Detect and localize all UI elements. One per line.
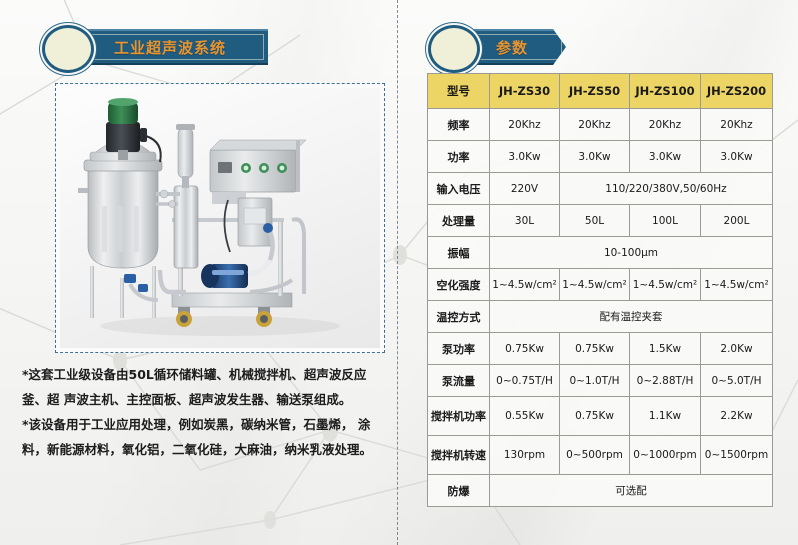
- table-cell: 30L: [490, 205, 560, 237]
- table-cell: 配有温控夹套: [490, 301, 773, 333]
- table-cell: 0~1000rpm: [630, 436, 701, 475]
- ultrasonic-system-illustration: [60, 88, 380, 348]
- table-row: 泵流量0~0.75T/H0~1.0T/H0~2.88T/H0~5.0T/H: [428, 365, 773, 397]
- right-section-banner: 参数: [428, 25, 588, 65]
- table-row: 处理量30L50L100L200L: [428, 205, 773, 237]
- table-cell: 可选配: [490, 475, 773, 507]
- row-label: 温控方式: [428, 301, 490, 333]
- table-cell: 20Khz: [560, 109, 630, 141]
- table-cell: 2.0Kw: [701, 333, 773, 365]
- table-cell: 3.0Kw: [701, 141, 773, 173]
- row-label: 搅拌机功率: [428, 397, 490, 436]
- header-cell-model: JH-ZS100: [630, 74, 701, 109]
- table-cell: 220V: [490, 173, 560, 205]
- table-row: 空化强度1~4.5w/cm²1~4.5w/cm²1~4.5w/cm²1~4.5w…: [428, 269, 773, 301]
- description-line-2: *该设备用于工业应用处理，例如炭黑，碳纳米管，石墨烯， 涂料，新能源材料，氧化铝…: [22, 412, 390, 462]
- table-cell: 1~4.5w/cm²: [560, 269, 630, 301]
- table-cell: 1~4.5w/cm²: [490, 269, 560, 301]
- row-label: 搅拌机转速: [428, 436, 490, 475]
- left-banner-ribbon: 工业超声波系统: [72, 29, 268, 65]
- table-cell: 20Khz: [701, 109, 773, 141]
- table-row: 温控方式配有温控夹套: [428, 301, 773, 333]
- table-cell: 50L: [560, 205, 630, 237]
- table-cell: 0~500rpm: [560, 436, 630, 475]
- table-cell: 0.75Kw: [560, 397, 630, 436]
- table-cell: 1~4.5w/cm²: [630, 269, 701, 301]
- row-label: 输入电压: [428, 173, 490, 205]
- table-cell: 110/220/380V,50/60Hz: [560, 173, 773, 205]
- table-cell: 20Khz: [630, 109, 701, 141]
- table-cell: 0~0.75T/H: [490, 365, 560, 397]
- table-cell: 20Khz: [490, 109, 560, 141]
- table-cell: 0~5.0T/H: [701, 365, 773, 397]
- specification-table: 型号JH-ZS30JH-ZS50JH-ZS100JH-ZS200频率20Khz2…: [427, 73, 773, 507]
- left-section-banner: 工业超声波系统: [42, 25, 292, 65]
- table-cell: 0.75Kw: [560, 333, 630, 365]
- table-cell: 0.75Kw: [490, 333, 560, 365]
- table-cell: 1.5Kw: [630, 333, 701, 365]
- table-row: 防爆可选配: [428, 475, 773, 507]
- row-label: 防爆: [428, 475, 490, 507]
- table-row: 振幅10-100μm: [428, 237, 773, 269]
- header-cell-model: JH-ZS200: [701, 74, 773, 109]
- table-cell: 1~4.5w/cm²: [701, 269, 773, 301]
- row-label: 振幅: [428, 237, 490, 269]
- product-photo-frame: [55, 83, 385, 353]
- table-cell: 0~1500rpm: [701, 436, 773, 475]
- product-photo: [60, 88, 380, 348]
- panel-divider: [397, 0, 398, 545]
- header-cell-label: 型号: [428, 74, 490, 109]
- row-label: 频率: [428, 109, 490, 141]
- row-label: 空化强度: [428, 269, 490, 301]
- product-description: *这套工业级设备由50L循环储料罐、机械搅拌机、超声波反应釜、超 声波主机、主控…: [22, 362, 390, 462]
- header-cell-model: JH-ZS30: [490, 74, 560, 109]
- table-cell: 0~1.0T/H: [560, 365, 630, 397]
- medal-circle-icon: [428, 25, 480, 73]
- row-label: 泵流量: [428, 365, 490, 397]
- header-cell-model: JH-ZS50: [560, 74, 630, 109]
- left-banner-title: 工业超声波系统: [72, 31, 268, 63]
- table-cell: 1.1Kw: [630, 397, 701, 436]
- table-row: 搅拌机转速130rpm0~500rpm0~1000rpm0~1500rpm: [428, 436, 773, 475]
- table-row: 功率3.0Kw3.0Kw3.0Kw3.0Kw: [428, 141, 773, 173]
- table-row: 输入电压220V110/220/380V,50/60Hz: [428, 173, 773, 205]
- table-cell: 130rpm: [490, 436, 560, 475]
- table-cell: 3.0Kw: [630, 141, 701, 173]
- table-cell: 3.0Kw: [490, 141, 560, 173]
- table-cell: 100L: [630, 205, 701, 237]
- table-cell: 200L: [701, 205, 773, 237]
- medal-circle-icon: [42, 25, 94, 73]
- table-row: 搅拌机功率0.55Kw0.75Kw1.1Kw2.2Kw: [428, 397, 773, 436]
- table-row: 泵功率0.75Kw0.75Kw1.5Kw2.0Kw: [428, 333, 773, 365]
- row-label: 处理量: [428, 205, 490, 237]
- description-line-1: *这套工业级设备由50L循环储料罐、机械搅拌机、超声波反应釜、超 声波主机、主控…: [22, 362, 390, 412]
- table-cell: 3.0Kw: [560, 141, 630, 173]
- table-cell: 2.2Kw: [701, 397, 773, 436]
- table-row: 频率20Khz20Khz20Khz20Khz: [428, 109, 773, 141]
- table-cell: 0~2.88T/H: [630, 365, 701, 397]
- table-cell: 10-100μm: [490, 237, 773, 269]
- table-cell: 0.55Kw: [490, 397, 560, 436]
- table-header-row: 型号JH-ZS30JH-ZS50JH-ZS100JH-ZS200: [428, 74, 773, 109]
- row-label: 功率: [428, 141, 490, 173]
- row-label: 泵功率: [428, 333, 490, 365]
